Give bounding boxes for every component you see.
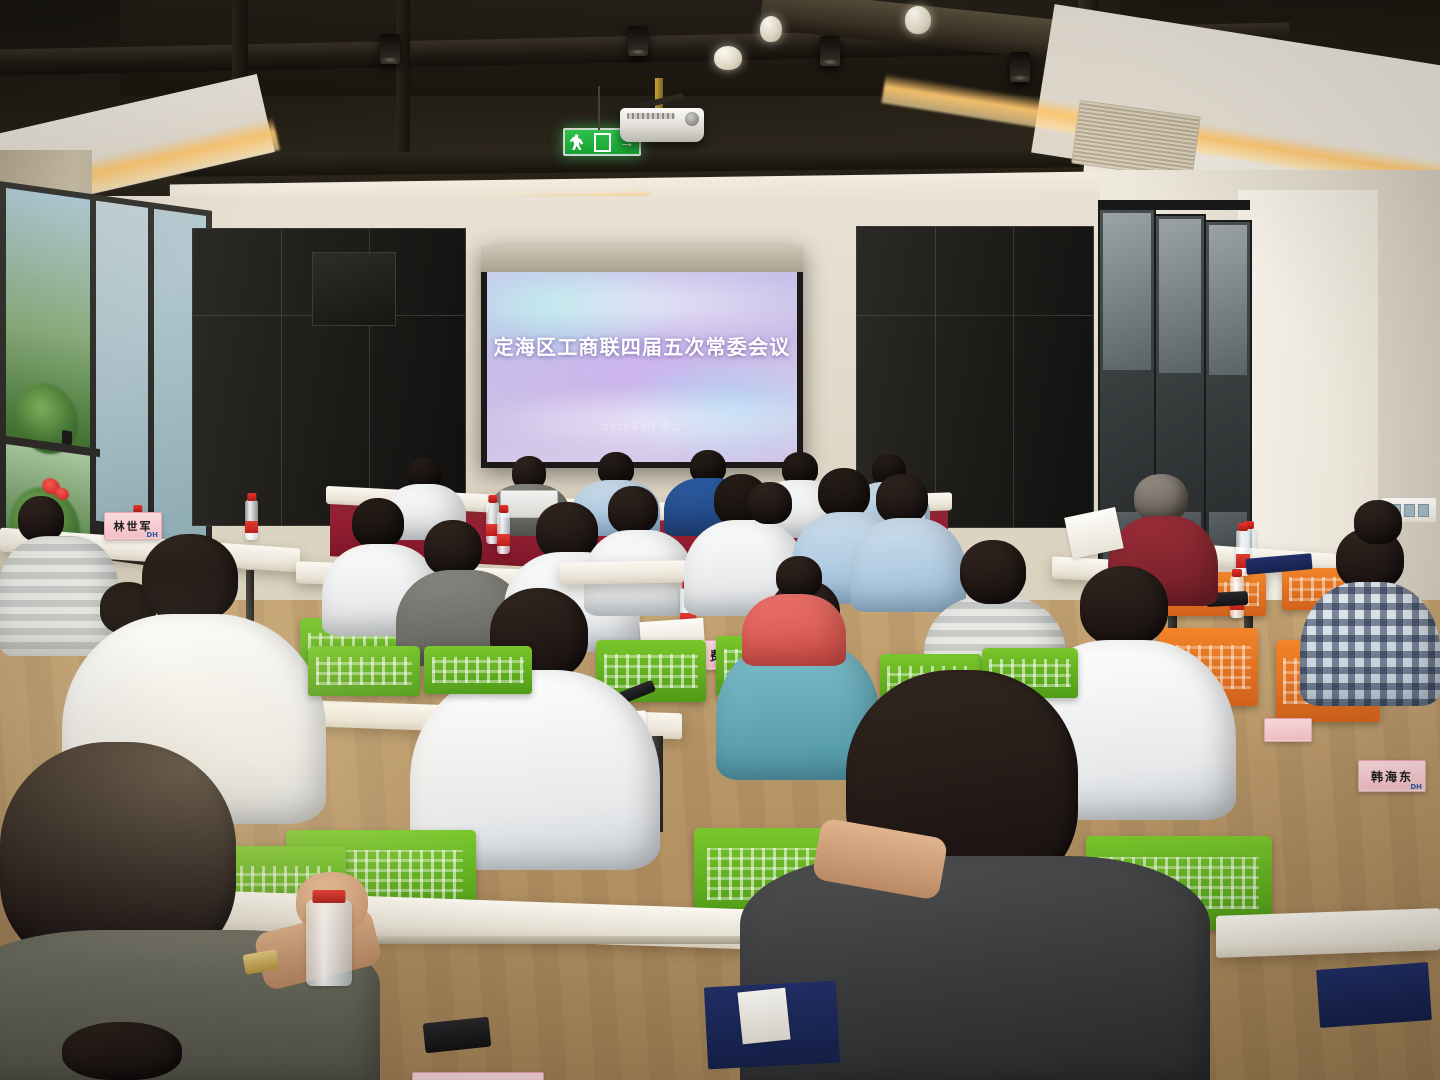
attendee-torso bbox=[0, 536, 118, 656]
projection-screen: 定海区工商联四届五次常委会议 2019年9月 舟山 bbox=[481, 246, 803, 468]
conference-room-photo: → bbox=[0, 0, 1440, 1080]
sprinkler-head-icon bbox=[760, 16, 782, 42]
attendee-head bbox=[142, 534, 238, 622]
attendee-head bbox=[748, 482, 792, 524]
nameplate: 林世军 DH bbox=[104, 512, 162, 540]
window-pane-frosted bbox=[96, 201, 148, 528]
water-bottle[interactable] bbox=[245, 500, 258, 540]
screen-roller-housing bbox=[481, 246, 803, 272]
attendee-torso bbox=[850, 518, 966, 612]
attendee-torso bbox=[742, 594, 846, 666]
water-bottle[interactable] bbox=[497, 512, 510, 554]
nameplate: 韩海东 DH bbox=[1358, 760, 1426, 792]
attendee-head bbox=[1354, 500, 1402, 544]
running-man-icon bbox=[570, 134, 585, 150]
document-folder-foreground[interactable] bbox=[1316, 962, 1432, 1028]
projection-screen-surface: 定海区工商联四届五次常委会议 2019年9月 舟山 bbox=[487, 272, 797, 462]
attendee-head bbox=[776, 556, 822, 598]
track-light-icon bbox=[380, 34, 400, 64]
chair-green[interactable] bbox=[424, 646, 532, 694]
attendee-head bbox=[608, 486, 658, 534]
chair-green[interactable] bbox=[308, 646, 420, 696]
cabinet-glass-panel bbox=[312, 252, 396, 326]
track-light-icon bbox=[820, 36, 840, 66]
switch-rocker-icon[interactable] bbox=[1418, 504, 1429, 517]
attendee-head bbox=[1080, 566, 1168, 646]
projector-lens-icon bbox=[685, 112, 699, 126]
nameplate bbox=[1264, 718, 1312, 742]
partition-header-rail bbox=[1098, 200, 1250, 210]
track-light-icon bbox=[628, 26, 648, 56]
attendee-torso bbox=[1300, 582, 1440, 706]
exit-door-icon bbox=[594, 133, 611, 152]
document-papers[interactable] bbox=[737, 988, 790, 1045]
attendee-head bbox=[1134, 474, 1188, 522]
attendee-head bbox=[352, 498, 404, 548]
sprinkler-head-icon bbox=[905, 6, 931, 34]
window-handle bbox=[62, 430, 72, 445]
slide-subtitle: 2019年9月 舟山 bbox=[487, 420, 797, 433]
attendee-head bbox=[876, 474, 928, 524]
water-bottle-held[interactable] bbox=[306, 900, 352, 986]
attendee-head bbox=[962, 546, 1024, 604]
dome-light-icon bbox=[714, 46, 742, 70]
projector-mount bbox=[655, 78, 663, 112]
track-light-icon bbox=[1010, 52, 1030, 82]
slide-title: 定海区工商联四届五次常委会议 bbox=[487, 331, 797, 360]
exit-sign-hanger bbox=[598, 86, 600, 130]
ceiling-projector bbox=[620, 108, 704, 142]
switch-rocker-icon[interactable] bbox=[1404, 504, 1415, 517]
attendee-head bbox=[62, 1022, 182, 1080]
ceiling-hanger-mid bbox=[396, 0, 410, 152]
attendee-head bbox=[818, 468, 870, 518]
nameplate-foreground-left: 叶军明 DH bbox=[412, 1072, 544, 1080]
attendee-head bbox=[424, 520, 482, 576]
nameplate-name: 韩海东 bbox=[1371, 768, 1413, 785]
front-table-right bbox=[1216, 908, 1440, 958]
